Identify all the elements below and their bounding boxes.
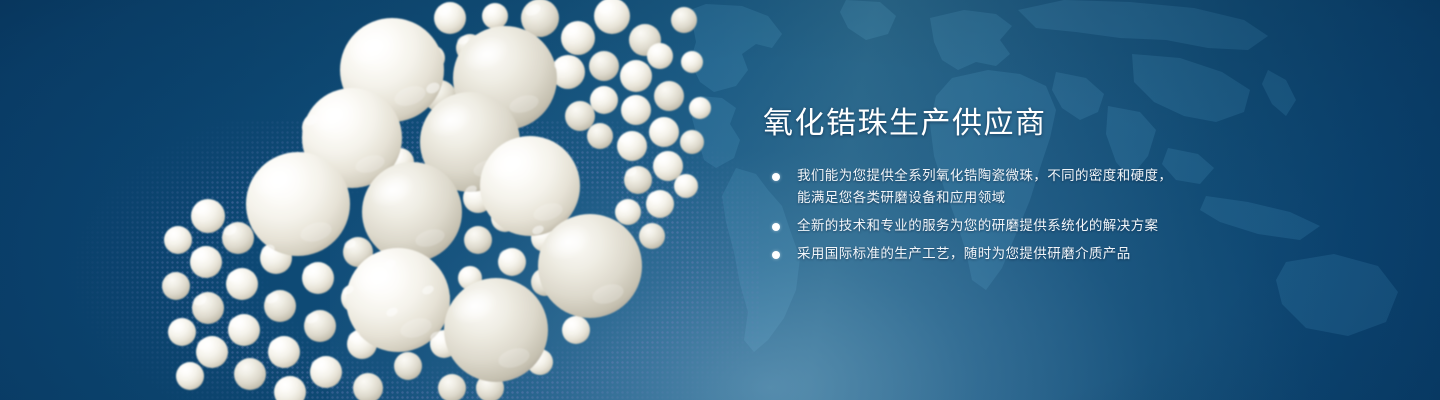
list-item: 采用国际标准的生产工艺，随时为您提供研磨介质产品 — [763, 244, 1323, 265]
page-title: 氧化锆珠生产供应商 — [763, 104, 1323, 144]
bullet-line: 采用国际标准的生产工艺，随时为您提供研磨介质产品 — [797, 244, 1323, 265]
bullet-line: 全新的技术和专业的服务为您的研磨提供系统化的解决方案 — [797, 216, 1323, 237]
dot-bullet-icon — [772, 251, 780, 259]
dot-bullet-icon — [772, 223, 780, 231]
bullet-line: 我们能为您提供全系列氧化锆陶瓷微珠，不同的密度和硬度， — [797, 166, 1323, 187]
banner-copy: 氧化锆珠生产供应商 我们能为您提供全系列氧化锆陶瓷微珠，不同的密度和硬度， 能满… — [763, 104, 1323, 265]
list-item: 全新的技术和专业的服务为您的研磨提供系统化的解决方案 — [763, 216, 1323, 237]
hero-banner: 氧化锆珠生产供应商 我们能为您提供全系列氧化锆陶瓷微珠，不同的密度和硬度， 能满… — [0, 0, 1440, 400]
list-item: 我们能为您提供全系列氧化锆陶瓷微珠，不同的密度和硬度， 能满足您各类研磨设备和应… — [763, 166, 1323, 209]
dot-bullet-icon — [772, 173, 780, 181]
bullet-line: 能满足您各类研磨设备和应用领域 — [797, 188, 1323, 209]
feature-bullet-list: 我们能为您提供全系列氧化锆陶瓷微珠，不同的密度和硬度， 能满足您各类研磨设备和应… — [763, 166, 1323, 265]
